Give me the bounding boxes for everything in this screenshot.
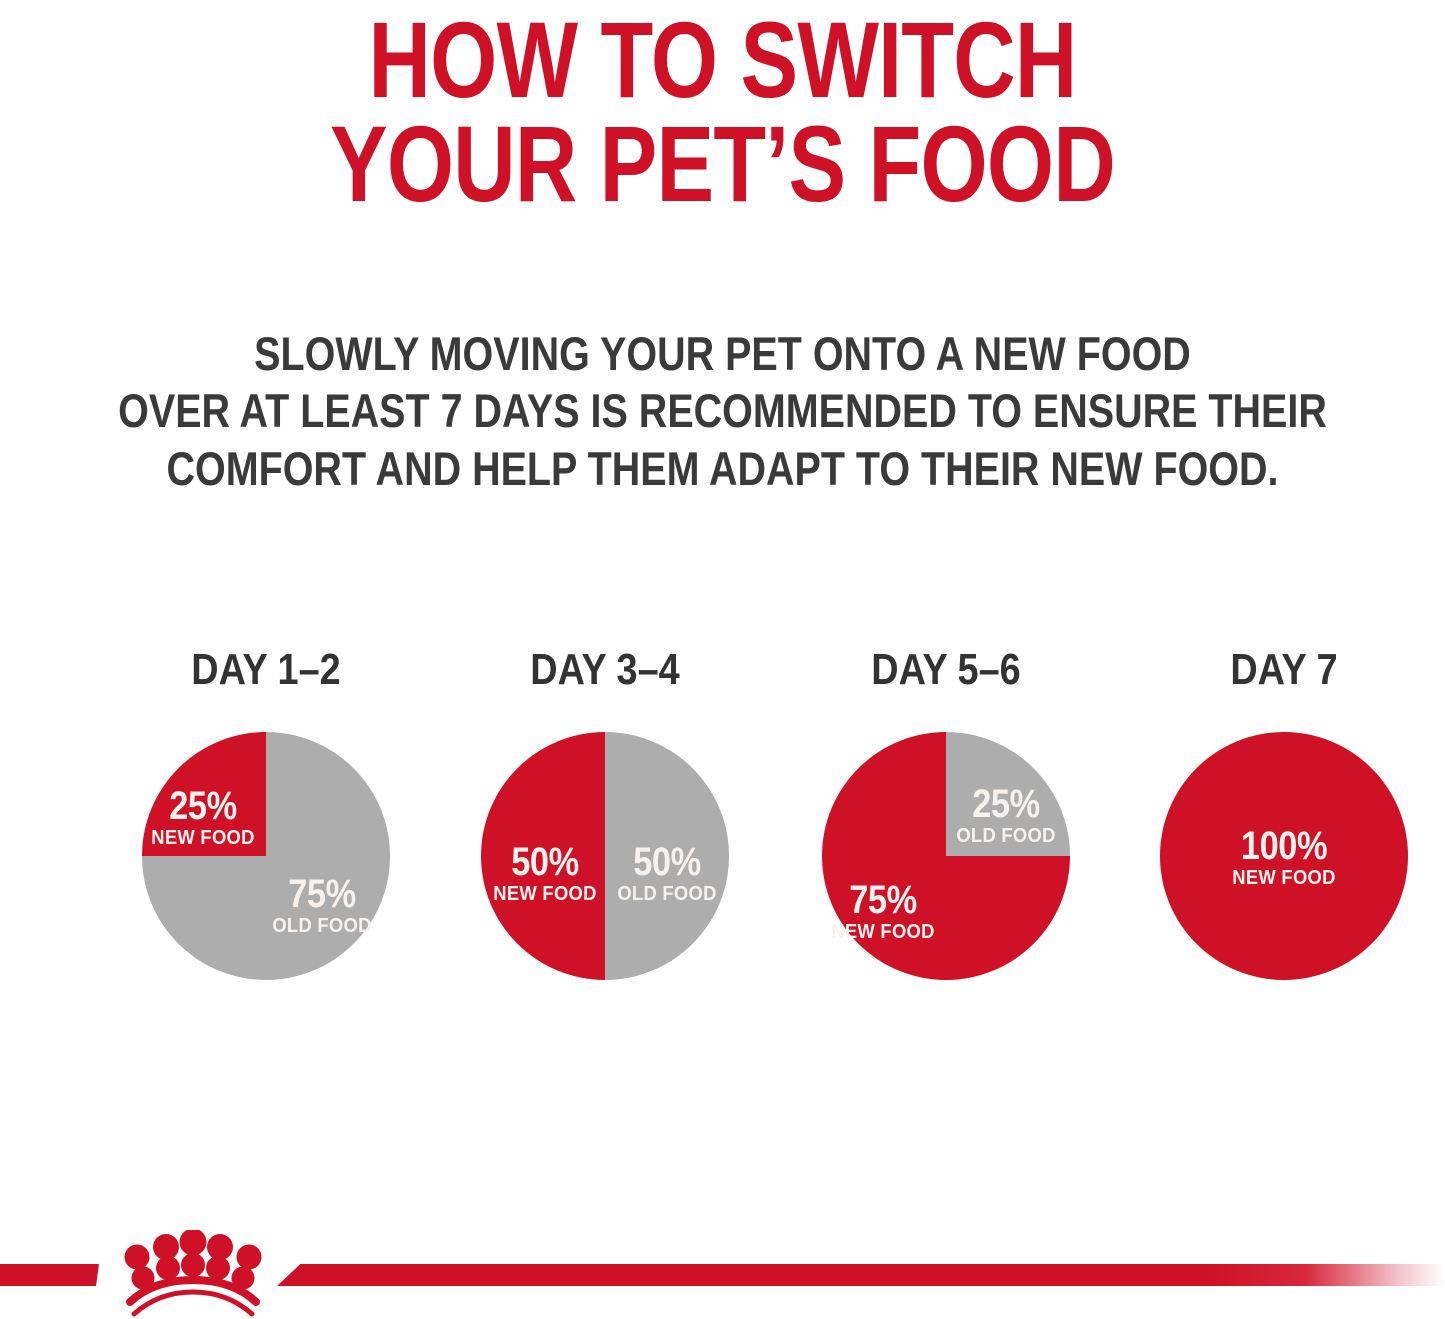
- footer-rule-left: [0, 1264, 99, 1286]
- page-title: HOW TO SWITCH YOUR PET’S FOOD: [0, 8, 1445, 215]
- day-label-1: DAY 1–2: [150, 648, 382, 696]
- pie-panel-day-7: DAY 7 100% NEW FOOD: [1149, 648, 1419, 980]
- pie-3-svg: [822, 732, 1070, 980]
- pie-panel-day-3-4: DAY 3–4 50% NEW FOOD 50% OLD FOOD: [470, 648, 740, 980]
- day-label-4: DAY 7: [1168, 648, 1400, 696]
- pie-2-slice-new-food: [481, 732, 605, 980]
- pie-chart-2: 50% NEW FOOD 50% OLD FOOD: [481, 732, 729, 980]
- subtitle-line-2: OVER AT LEAST 7 DAYS IS RECOMMENDED TO E…: [116, 382, 1330, 439]
- title-line-2: YOUR PET’S FOOD: [145, 112, 1301, 216]
- pie-2-slice-old-food: [605, 732, 729, 980]
- pie-2-svg: [481, 732, 729, 980]
- pie-chart-3: 25% OLD FOOD 75% NEW FOOD: [822, 732, 1070, 980]
- title-line-1: HOW TO SWITCH: [145, 8, 1301, 112]
- pie-4-svg: [1160, 732, 1408, 980]
- pie-3-slice-old-food: [946, 732, 1070, 856]
- pie-4-slice-new-food: [1160, 732, 1408, 980]
- pie-1-svg: [142, 732, 390, 980]
- pie-chart-4: 100% NEW FOOD: [1160, 732, 1408, 980]
- crown-svg: [104, 1230, 282, 1319]
- pie-panel-day-1-2: DAY 1–2 25% NEW FOOD 75% OLD FOOD: [131, 648, 401, 980]
- day-label-2: DAY 3–4: [489, 648, 721, 696]
- pie-panel-day-5-6: DAY 5–6 25% OLD FOOD 75% NEW FOOD: [811, 648, 1081, 980]
- pie-1-slice-new-food: [142, 732, 266, 856]
- footer-rule-right: [277, 1264, 1445, 1286]
- subtitle-line-1: SLOWLY MOVING YOUR PET ONTO A NEW FOOD: [116, 325, 1330, 382]
- royal-canin-crown-icon: [104, 1230, 282, 1319]
- pie-chart-row: DAY 1–2 25% NEW FOOD 75% OLD FOOD DAY 3–…: [0, 648, 1445, 1068]
- pie-chart-1: 25% NEW FOOD 75% OLD FOOD: [142, 732, 390, 980]
- day-label-3: DAY 5–6: [830, 648, 1062, 696]
- subtitle-line-3: COMFORT AND HELP THEM ADAPT TO THEIR NEW…: [116, 440, 1330, 497]
- footer: [0, 1228, 1445, 1319]
- subtitle: SLOWLY MOVING YOUR PET ONTO A NEW FOOD O…: [0, 325, 1445, 497]
